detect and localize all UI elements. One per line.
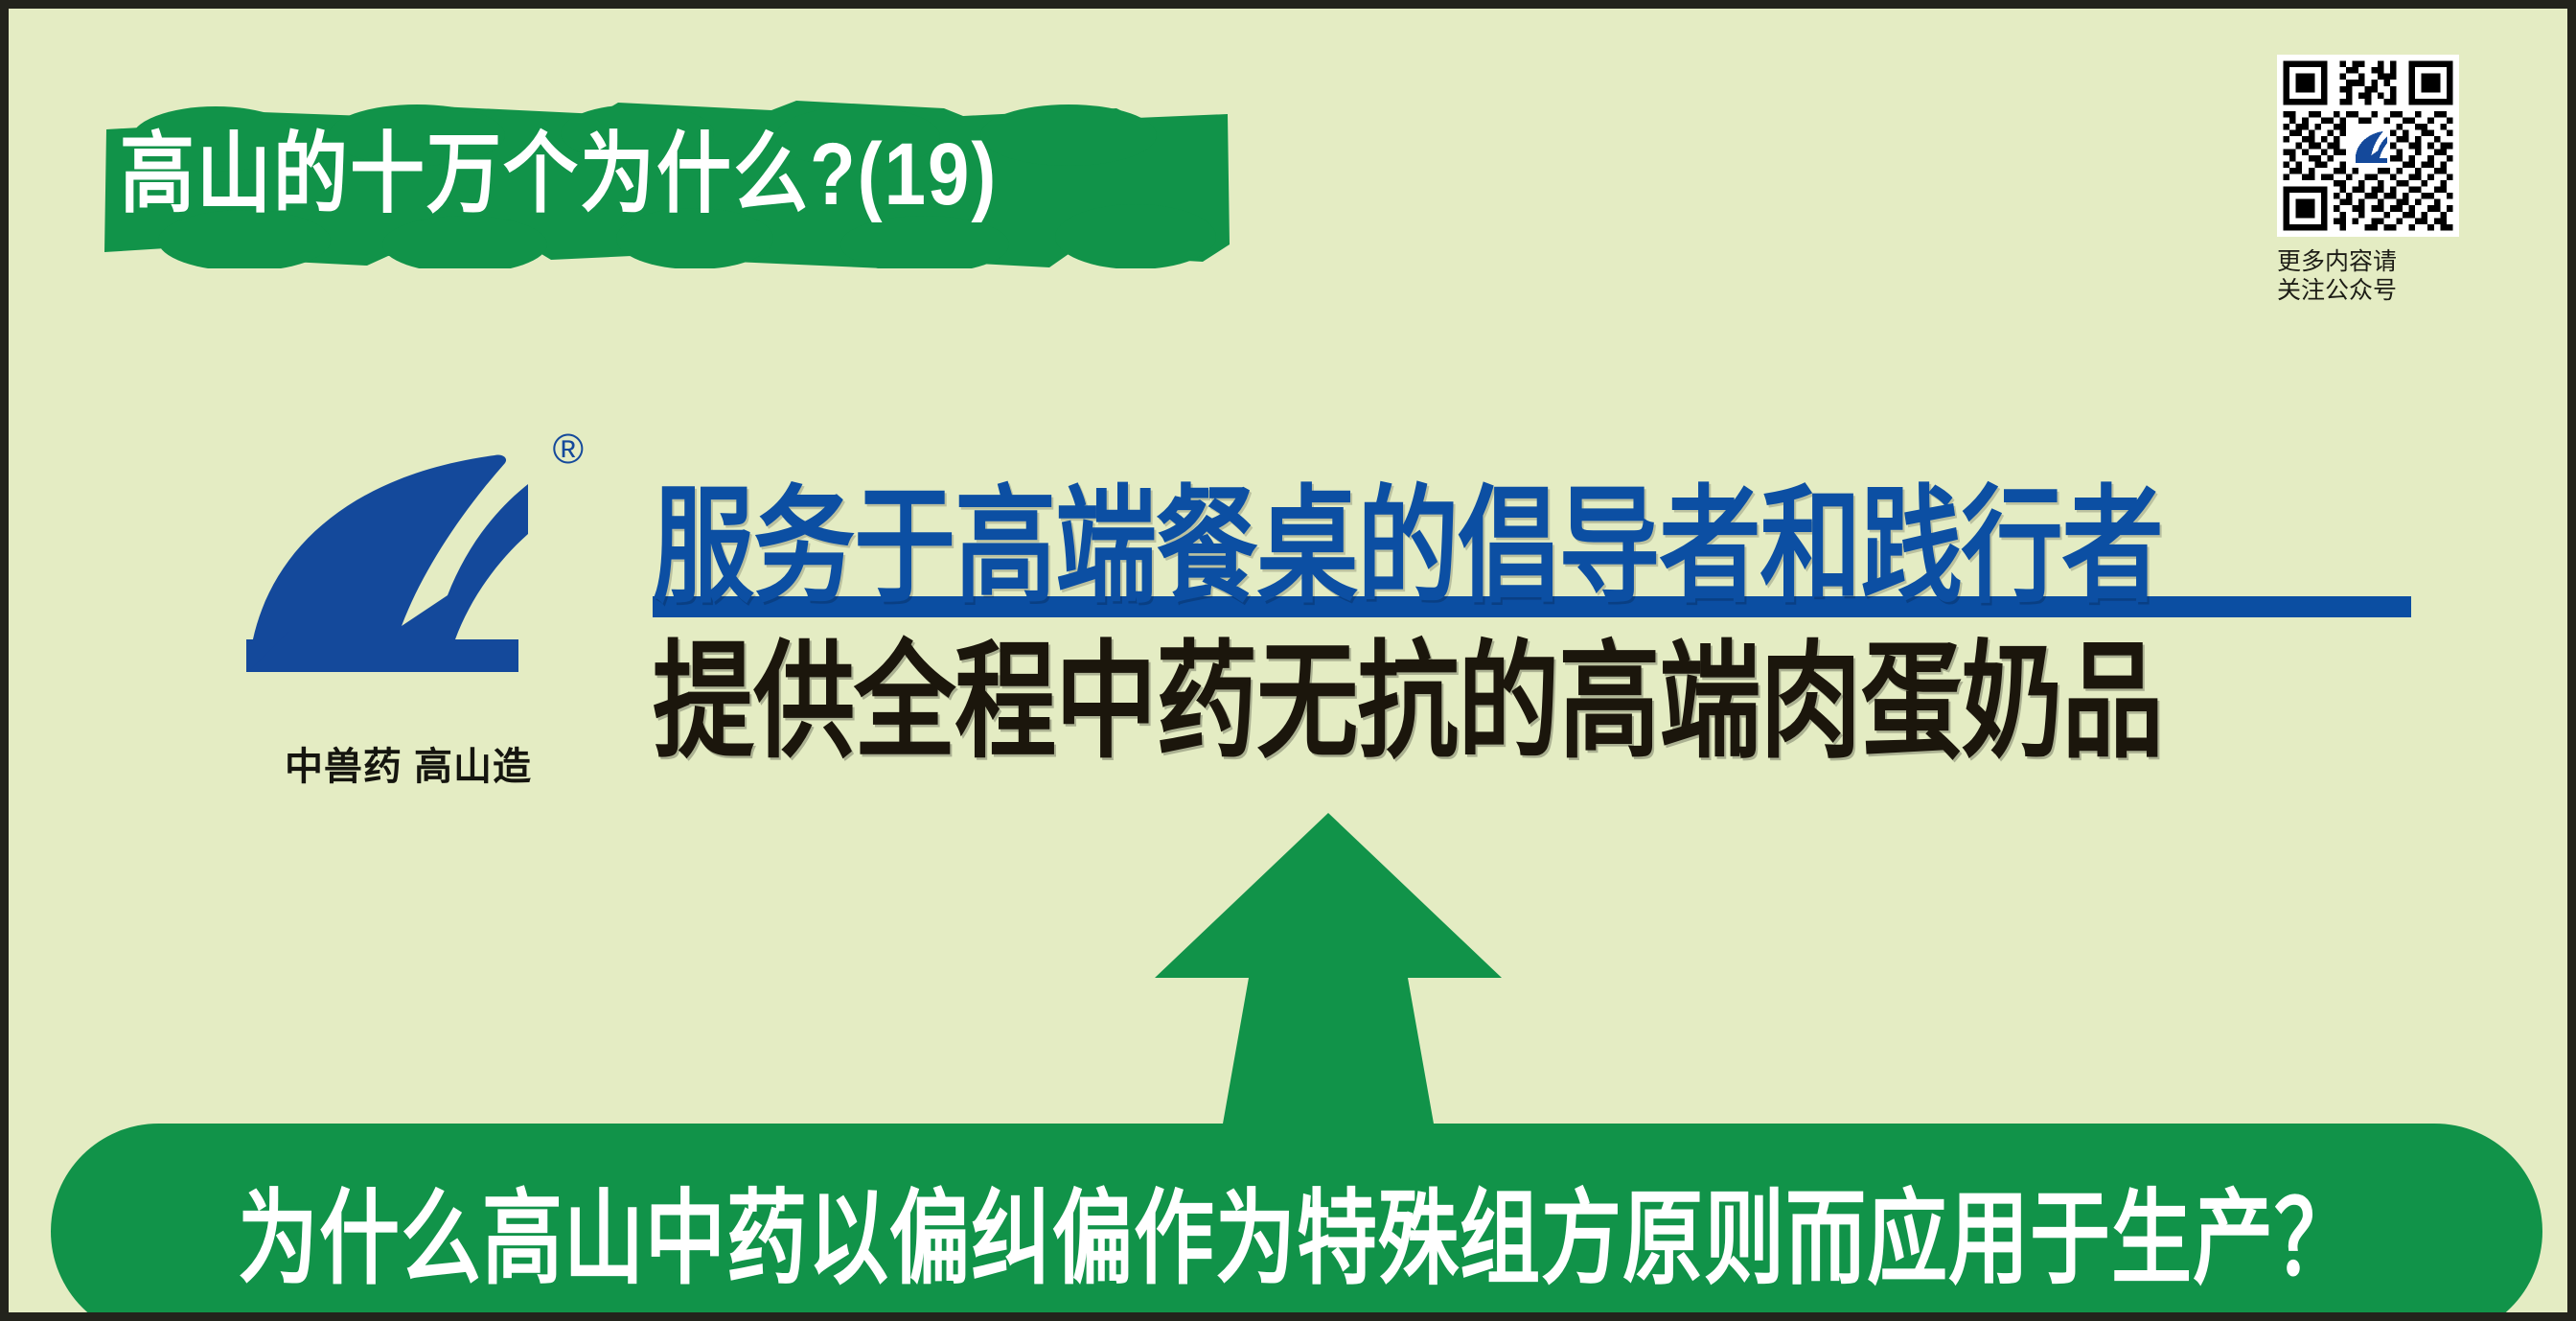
page-title-block: 高山的十万个为什么?(19) [101, 101, 1231, 268]
slogan-primary: 服务于高端餐桌的倡导者和践行者 [653, 483, 2487, 611]
logo-caption: 中兽药 高山造 [221, 735, 595, 791]
poster-canvas: 高山的十万个为什么?(19) [0, 0, 2576, 1321]
question-banner: 为什么高山中药以偏纠偏作为特殊组方原则而应用于生产？ [51, 1124, 2542, 1321]
page-title: 高山的十万个为什么?(19) [120, 129, 1212, 218]
qr-caption: 更多内容请 关注公众号 [2277, 248, 2464, 305]
slogan-block: 服务于高端餐桌的倡导者和践行者 提供全程中药无抗的高端肉蛋奶品 [653, 483, 2416, 736]
question-text: 为什么高山中药以偏纠偏作为特殊组方原则而应用于生产？ [238, 1156, 2356, 1305]
arrow-up-icon [1151, 809, 1506, 1140]
qr-block: 更多内容请 关注公众号 [2277, 55, 2464, 305]
brand-logo: ® 中兽药 高山造 [221, 421, 605, 823]
registered-trademark-icon: ® [553, 429, 584, 471]
slogan-secondary: 提供全程中药无抗的高端肉蛋奶品 [653, 638, 2487, 766]
gaoshan-leaf-logo-icon [221, 421, 605, 747]
qr-code-icon[interactable] [2277, 55, 2459, 237]
